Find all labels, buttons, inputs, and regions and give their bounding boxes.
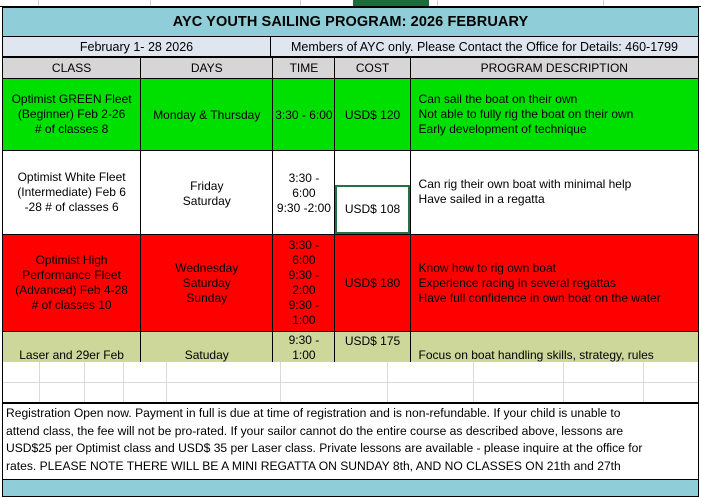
registration-notice: Registration Open now. Payment in full i… bbox=[2, 403, 699, 480]
gridline bbox=[300, 0, 301, 6]
column-header-description: PROGRAM DESCRIPTION bbox=[410, 58, 698, 79]
gridline bbox=[38, 0, 39, 6]
notice-line: rates. PLEASE NOTE THERE WILL BE A MINI … bbox=[6, 458, 695, 476]
cell-description: Can rig their own boat with minimal help… bbox=[410, 151, 698, 235]
class-line: Optimist White Fleet bbox=[7, 170, 136, 185]
class-line: (Intermediate) Feb 6 bbox=[7, 185, 136, 200]
day-line: Saturday bbox=[145, 276, 268, 291]
active-cell-indicator[interactable] bbox=[353, 0, 429, 6]
class-line: # of classes 10 bbox=[7, 298, 136, 313]
footer-bar bbox=[2, 480, 699, 497]
notice-line: USD$25 per Optimist class and USD$ 35 pe… bbox=[6, 440, 695, 458]
gridline bbox=[123, 362, 124, 402]
cell-time: 3:30 - 6:00 bbox=[273, 79, 335, 151]
spreadsheet-top-strip bbox=[0, 0, 701, 7]
cell-days: Monday & Thursday bbox=[141, 79, 273, 151]
class-line: Optimist GREEN Fleet bbox=[7, 92, 136, 107]
cell-class: Optimist High Performance Fleet (Advance… bbox=[3, 235, 141, 332]
description-line: Can rig their own boat with minimal help bbox=[419, 177, 694, 192]
description-line: Focus on boat handling skills, strategy,… bbox=[419, 348, 694, 363]
description-line: Early development of technique bbox=[419, 122, 694, 137]
description-line: Experience racing in several regattas bbox=[419, 276, 694, 291]
table-row[interactable]: Optimist High Performance Fleet (Advance… bbox=[3, 235, 699, 332]
date-range-cell: February 1- 28 2026 bbox=[3, 37, 271, 56]
gridline bbox=[84, 362, 85, 402]
selected-cost-cell[interactable]: USD$ 108 bbox=[335, 185, 409, 234]
time-line: 9:30 - 2:00 bbox=[275, 268, 332, 298]
column-header-time: TIME bbox=[273, 58, 335, 79]
gridline bbox=[603, 0, 604, 6]
notice-line: Registration Open now. Payment in full i… bbox=[6, 405, 695, 423]
table-header-row: CLASS DAYS TIME COST PROGRAM DESCRIPTION bbox=[3, 58, 699, 79]
spreadsheet-canvas: AYC YOUTH SAILING PROGRAM: 2026 FEBRUARY… bbox=[0, 0, 701, 498]
program-title-banner: AYC YOUTH SAILING PROGRAM: 2026 FEBRUARY bbox=[2, 7, 699, 37]
cell-time: 3:30 - 6:00 9:30 -2:00 bbox=[273, 151, 335, 235]
time-line: 3:30 - 6:00 bbox=[275, 238, 332, 268]
gridline bbox=[150, 0, 151, 6]
gridline bbox=[280, 362, 281, 402]
class-line: (Beginner) Feb 2-26 bbox=[7, 107, 136, 122]
description-line: Know how to rig own boat bbox=[419, 261, 694, 276]
contact-info-cell: Members of AYC only. Please Contact the … bbox=[271, 37, 698, 56]
description-line: Have sailed in a regatta bbox=[419, 192, 694, 207]
class-line: Optimist High bbox=[7, 253, 136, 268]
class-line: -28 # of classes 6 bbox=[7, 200, 136, 215]
gridline bbox=[166, 362, 167, 402]
cell-days: Friday Saturday bbox=[141, 151, 273, 235]
day-line: Sunday bbox=[145, 291, 268, 306]
cell-cost[interactable]: USD$ 108 bbox=[335, 151, 410, 235]
gridline bbox=[643, 362, 644, 402]
class-line: (Advanced) Feb 4-28 bbox=[7, 283, 136, 298]
class-line: Performance Fleet bbox=[7, 268, 136, 283]
cell-class: Optimist GREEN Fleet (Beginner) Feb 2-26… bbox=[3, 79, 141, 151]
time-line: 3:30 - 6:00 bbox=[275, 171, 332, 201]
time-line: 9:30 - 1:00 bbox=[275, 333, 332, 363]
column-header-cost: COST bbox=[335, 58, 410, 79]
time-line: 9:30 -2:00 bbox=[275, 201, 332, 216]
page-title: AYC YOUTH SAILING PROGRAM: 2026 FEBRUARY bbox=[173, 14, 529, 30]
gridline bbox=[437, 0, 438, 6]
class-line: Laser and 29er Feb bbox=[7, 348, 136, 363]
cell-cost: USD$ 180 bbox=[335, 235, 410, 332]
gridline bbox=[39, 362, 40, 402]
info-row: February 1- 28 2026 Members of AYC only.… bbox=[2, 37, 699, 57]
day-line: Saturday bbox=[145, 194, 268, 209]
class-line: # of classes 8 bbox=[7, 122, 136, 137]
column-header-class: CLASS bbox=[3, 58, 141, 79]
description-line: Have full confidence in own boat on the … bbox=[419, 291, 694, 306]
table-row[interactable]: Optimist GREEN Fleet (Beginner) Feb 2-26… bbox=[3, 79, 699, 151]
cell-description: Know how to rig own boat Experience raci… bbox=[410, 235, 698, 332]
gridline bbox=[3, 382, 698, 383]
day-line: Wednesday bbox=[145, 261, 268, 276]
cell-days: Wednesday Saturday Sunday bbox=[141, 235, 273, 332]
table-row[interactable]: Optimist White Fleet (Intermediate) Feb … bbox=[3, 151, 699, 235]
notice-line: attend class, the fee will not be pro-ra… bbox=[6, 423, 695, 441]
cell-cost: USD$ 120 bbox=[335, 79, 410, 151]
cell-time: 3:30 - 6:00 9:30 - 2:00 9:30 - 1:00 bbox=[273, 235, 335, 332]
cell-description: Can sail the boat on their own Not able … bbox=[410, 79, 698, 151]
cell-class: Optimist White Fleet (Intermediate) Feb … bbox=[3, 151, 141, 235]
description-line: Not able to fully rig the boat on their … bbox=[419, 107, 694, 122]
time-line: 9:30 - 1:00 bbox=[275, 298, 332, 328]
gridline bbox=[473, 362, 474, 402]
column-header-days: DAYS bbox=[141, 58, 273, 79]
class-schedule-table: CLASS DAYS TIME COST PROGRAM DESCRIPTION… bbox=[2, 57, 699, 395]
empty-spreadsheet-rows[interactable] bbox=[2, 362, 699, 403]
day-line: Satuday bbox=[145, 348, 268, 363]
gridline bbox=[563, 362, 564, 402]
cost-value: USD$ 108 bbox=[345, 202, 400, 216]
gridline bbox=[387, 362, 388, 402]
description-line: Can sail the boat on their own bbox=[419, 92, 694, 107]
day-line: Friday bbox=[145, 179, 268, 194]
